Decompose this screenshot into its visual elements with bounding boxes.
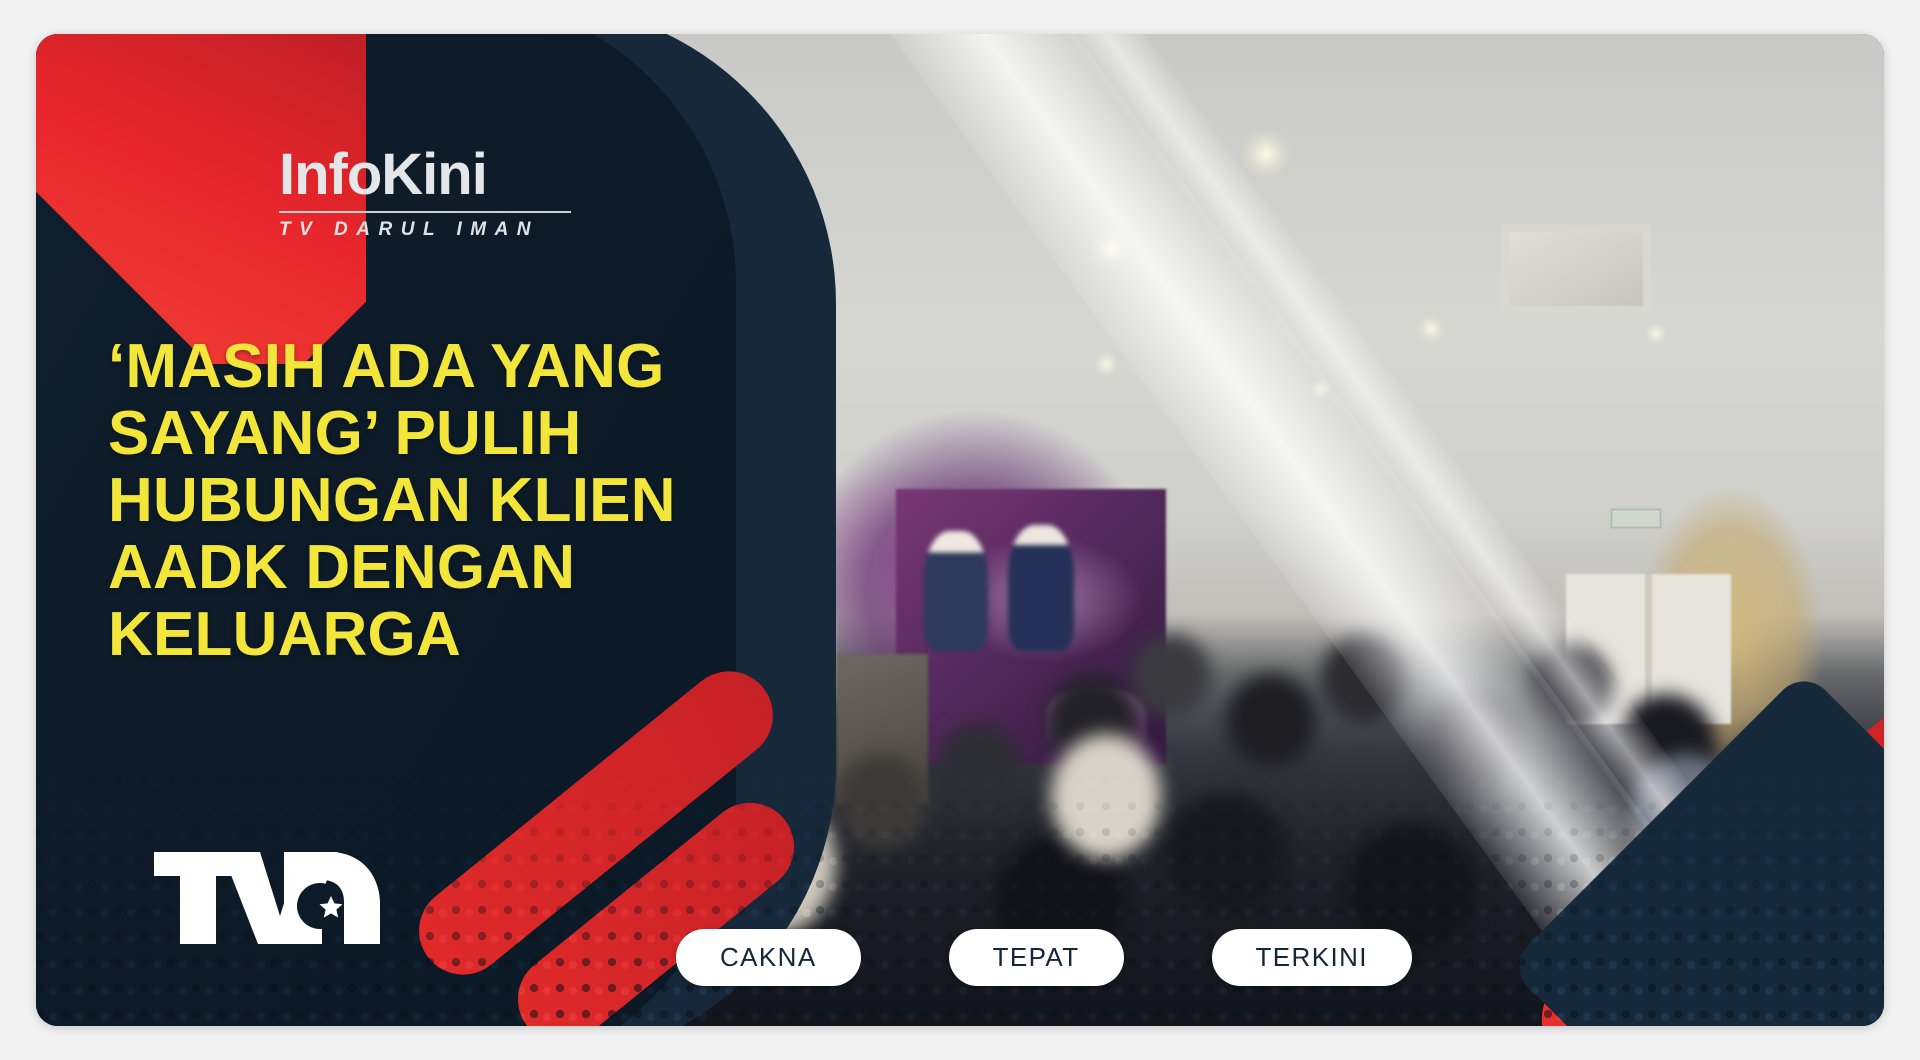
headline-line: ‘MASIH ADA YANG xyxy=(108,334,748,401)
crowd-blob xyxy=(936,724,1022,814)
tag-tepat[interactable]: TEPAT xyxy=(949,929,1124,986)
ceiling-ac-vent xyxy=(1501,224,1651,314)
crowd-blob xyxy=(1321,634,1407,724)
crowd-blob xyxy=(1166,794,1286,914)
exit-sign xyxy=(1611,509,1661,528)
tag-cakna[interactable]: CAKNA xyxy=(676,929,861,986)
crowd-blob xyxy=(1226,674,1316,766)
crescent-star-icon xyxy=(297,883,343,929)
news-card: InfoKini TV DARUL IMAN ‘MASIH ADA YANG S… xyxy=(36,34,1884,1026)
crowd-blob xyxy=(1131,634,1211,718)
brand-subtitle: TV DARUL IMAN xyxy=(279,219,699,241)
crowd-blob xyxy=(1526,644,1612,734)
headline-line: SAYANG’ PULIH xyxy=(108,401,748,468)
brand-lockup: InfoKini TV DARUL IMAN xyxy=(279,146,699,241)
tvd-logo-svg xyxy=(154,846,384,950)
crowd-blob xyxy=(1051,734,1161,859)
brand-divider xyxy=(279,211,571,213)
tag-terkini[interactable]: TERKINI xyxy=(1212,929,1412,986)
headline-line: HUBUNGAN KLIEN xyxy=(108,468,748,535)
tvd-logo xyxy=(154,846,384,950)
brand-title: InfoKini xyxy=(279,146,699,204)
tag-row: CAKNA TEPAT TERKINI xyxy=(676,929,1412,986)
headline-line: KELUARGA xyxy=(108,602,748,669)
headline: ‘MASIH ADA YANG SAYANG’ PULIH HUBUNGAN K… xyxy=(108,334,748,669)
headline-line: AADK DENGAN xyxy=(108,535,748,602)
crowd-blob xyxy=(1426,689,1522,787)
